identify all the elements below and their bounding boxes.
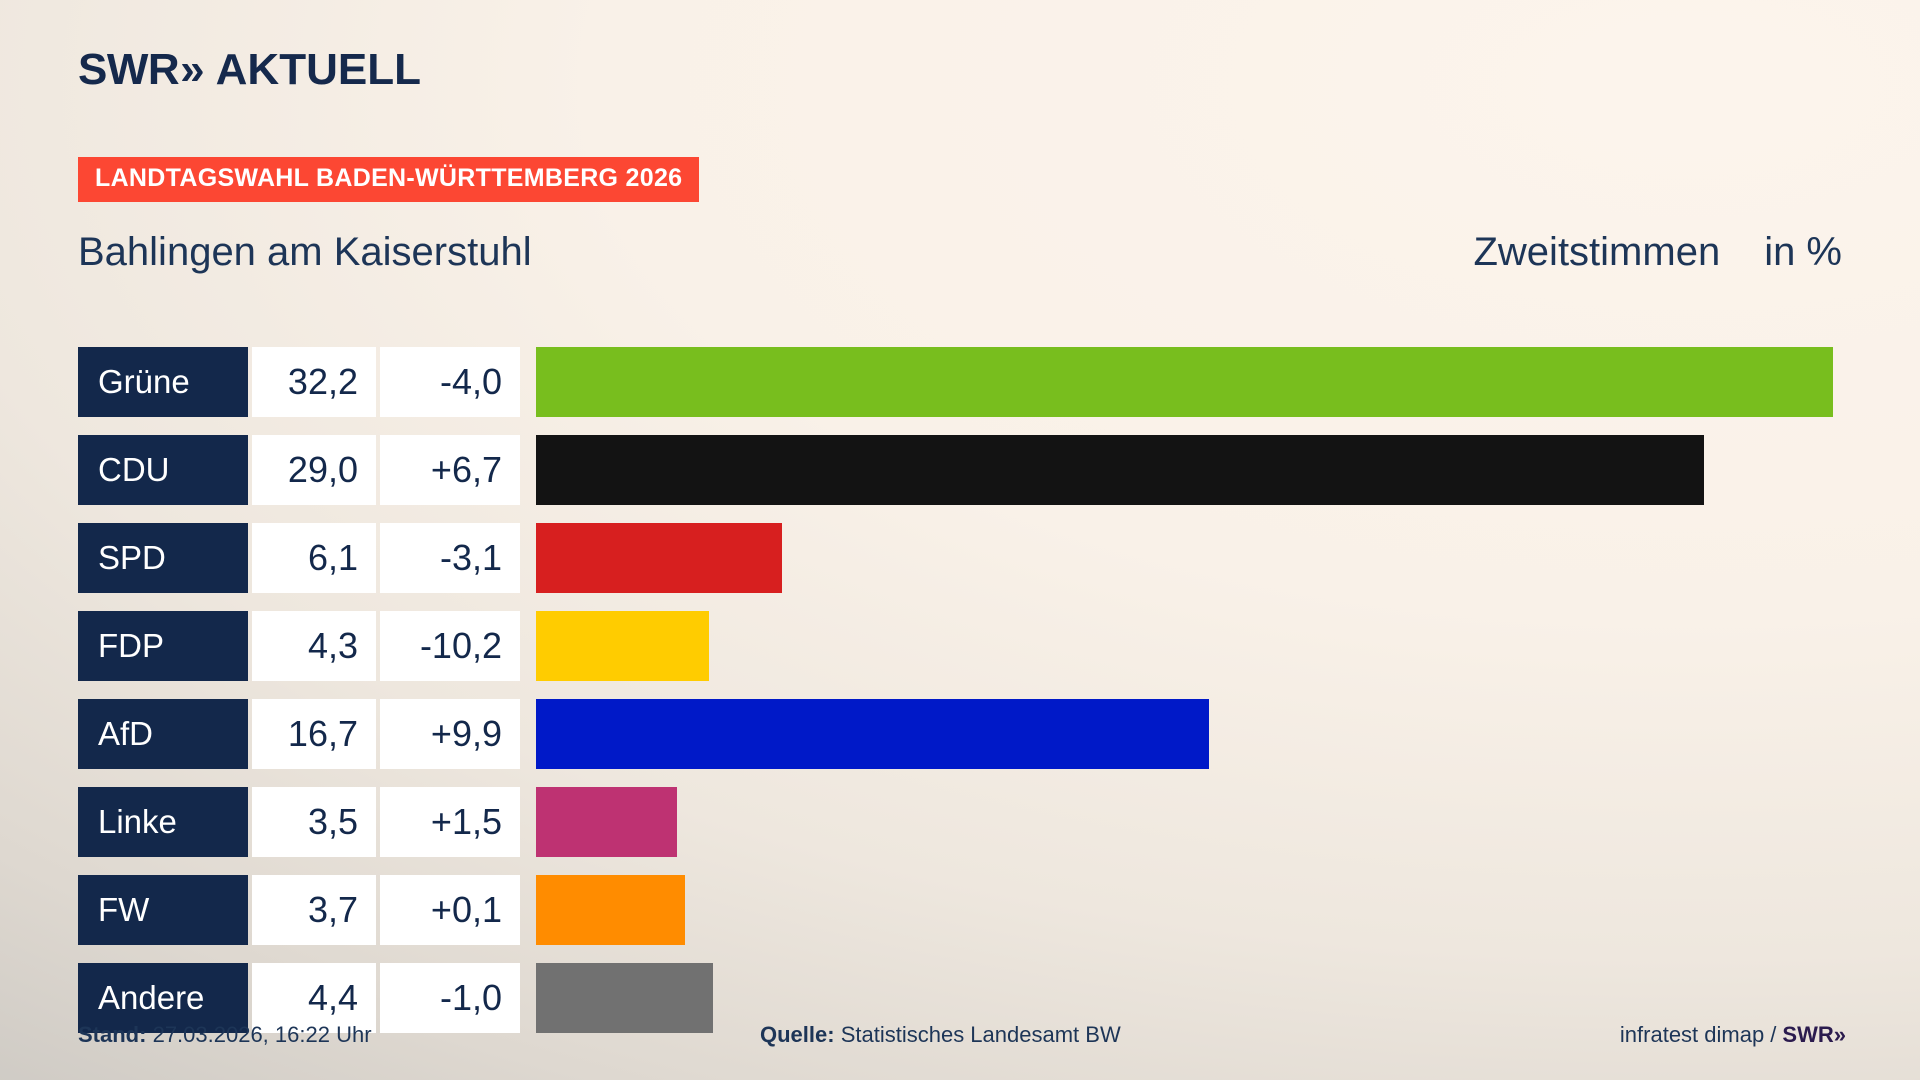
municipality-name: Bahlingen am Kaiserstuhl	[78, 230, 532, 275]
party-label-cell: FW	[78, 875, 248, 945]
party-label-cell: Grüne	[78, 347, 248, 417]
party-bar	[536, 875, 685, 945]
bar-track	[536, 866, 1868, 954]
party-bar	[536, 435, 1704, 505]
bar-track	[536, 778, 1868, 866]
party-bar	[536, 787, 677, 857]
party-share-cell: 32,2	[252, 347, 376, 417]
party-bar	[536, 523, 782, 593]
credit-swr: SWR	[1782, 1022, 1833, 1048]
logo-aktuell-text: AKTUELL	[216, 48, 421, 92]
table-row: FDP4,3-10,2	[78, 602, 1868, 690]
logo-swr-text: SWR	[78, 48, 179, 92]
party-change-cell: +1,5	[380, 787, 520, 857]
table-row: SPD6,1-3,1	[78, 514, 1868, 602]
party-change-cell: -3,1	[380, 523, 520, 593]
party-share-cell: 3,7	[252, 875, 376, 945]
party-label-cell: Linke	[78, 787, 248, 857]
election-result-graphic: SWR » AKTUELL LANDTAGSWAHL BADEN-WÜRTTEM…	[0, 0, 1920, 1080]
party-change-cell: +9,9	[380, 699, 520, 769]
party-label-cell: FDP	[78, 611, 248, 681]
party-share-cell: 29,0	[252, 435, 376, 505]
credit-chevron-icon: »	[1834, 1022, 1842, 1048]
party-label-cell: CDU	[78, 435, 248, 505]
party-bar	[536, 699, 1209, 769]
subtitle-row: Bahlingen am Kaiserstuhl Zweitstimmen in…	[78, 230, 1842, 275]
quelle-value: Statistisches Landesamt BW	[841, 1022, 1121, 1047]
stand-value: 27.03.2026, 16:22 Uhr	[153, 1022, 372, 1047]
table-row: CDU29,0+6,7	[78, 426, 1868, 514]
party-share-cell: 6,1	[252, 523, 376, 593]
table-row: Grüne32,2-4,0	[78, 338, 1868, 426]
credit-info: infratest dimap / SWR »	[1620, 1022, 1842, 1048]
party-share-cell: 3,5	[252, 787, 376, 857]
party-bar	[536, 347, 1833, 417]
results-table: Grüne32,2-4,0CDU29,0+6,7SPD6,1-3,1FDP4,3…	[78, 338, 1868, 1042]
stand-label: Stand:	[78, 1022, 146, 1047]
bar-track	[536, 338, 1868, 426]
party-bar	[536, 611, 709, 681]
bar-track	[536, 426, 1868, 514]
quelle-label: Quelle:	[760, 1022, 835, 1047]
vote-type-label: Zweitstimmen	[1473, 230, 1720, 275]
bar-track	[536, 602, 1868, 690]
party-share-cell: 4,3	[252, 611, 376, 681]
election-title-ribbon: LANDTAGSWAHL BADEN-WÜRTTEMBERG 2026	[78, 157, 699, 202]
party-label-cell: SPD	[78, 523, 248, 593]
party-change-cell: -4,0	[380, 347, 520, 417]
party-label-cell: AfD	[78, 699, 248, 769]
party-share-cell: 16,7	[252, 699, 376, 769]
table-row: FW3,7+0,1	[78, 866, 1868, 954]
footer: Stand: 27.03.2026, 16:22 Uhr Quelle: Sta…	[0, 1022, 1920, 1066]
table-row: AfD16,7+9,9	[78, 690, 1868, 778]
source-info: Quelle: Statistisches Landesamt BW	[760, 1022, 1121, 1048]
party-change-cell: +6,7	[380, 435, 520, 505]
bar-track	[536, 514, 1868, 602]
table-row: Linke3,5+1,5	[78, 778, 1868, 866]
bar-track	[536, 690, 1868, 778]
party-change-cell: +0,1	[380, 875, 520, 945]
double-chevron-icon: »	[180, 48, 198, 92]
credit-institute: infratest dimap /	[1620, 1022, 1777, 1048]
stand-info: Stand: 27.03.2026, 16:22 Uhr	[78, 1022, 372, 1048]
unit-label: in %	[1764, 230, 1842, 275]
party-change-cell: -10,2	[380, 611, 520, 681]
swr-aktuell-logo: SWR » AKTUELL	[78, 48, 421, 92]
